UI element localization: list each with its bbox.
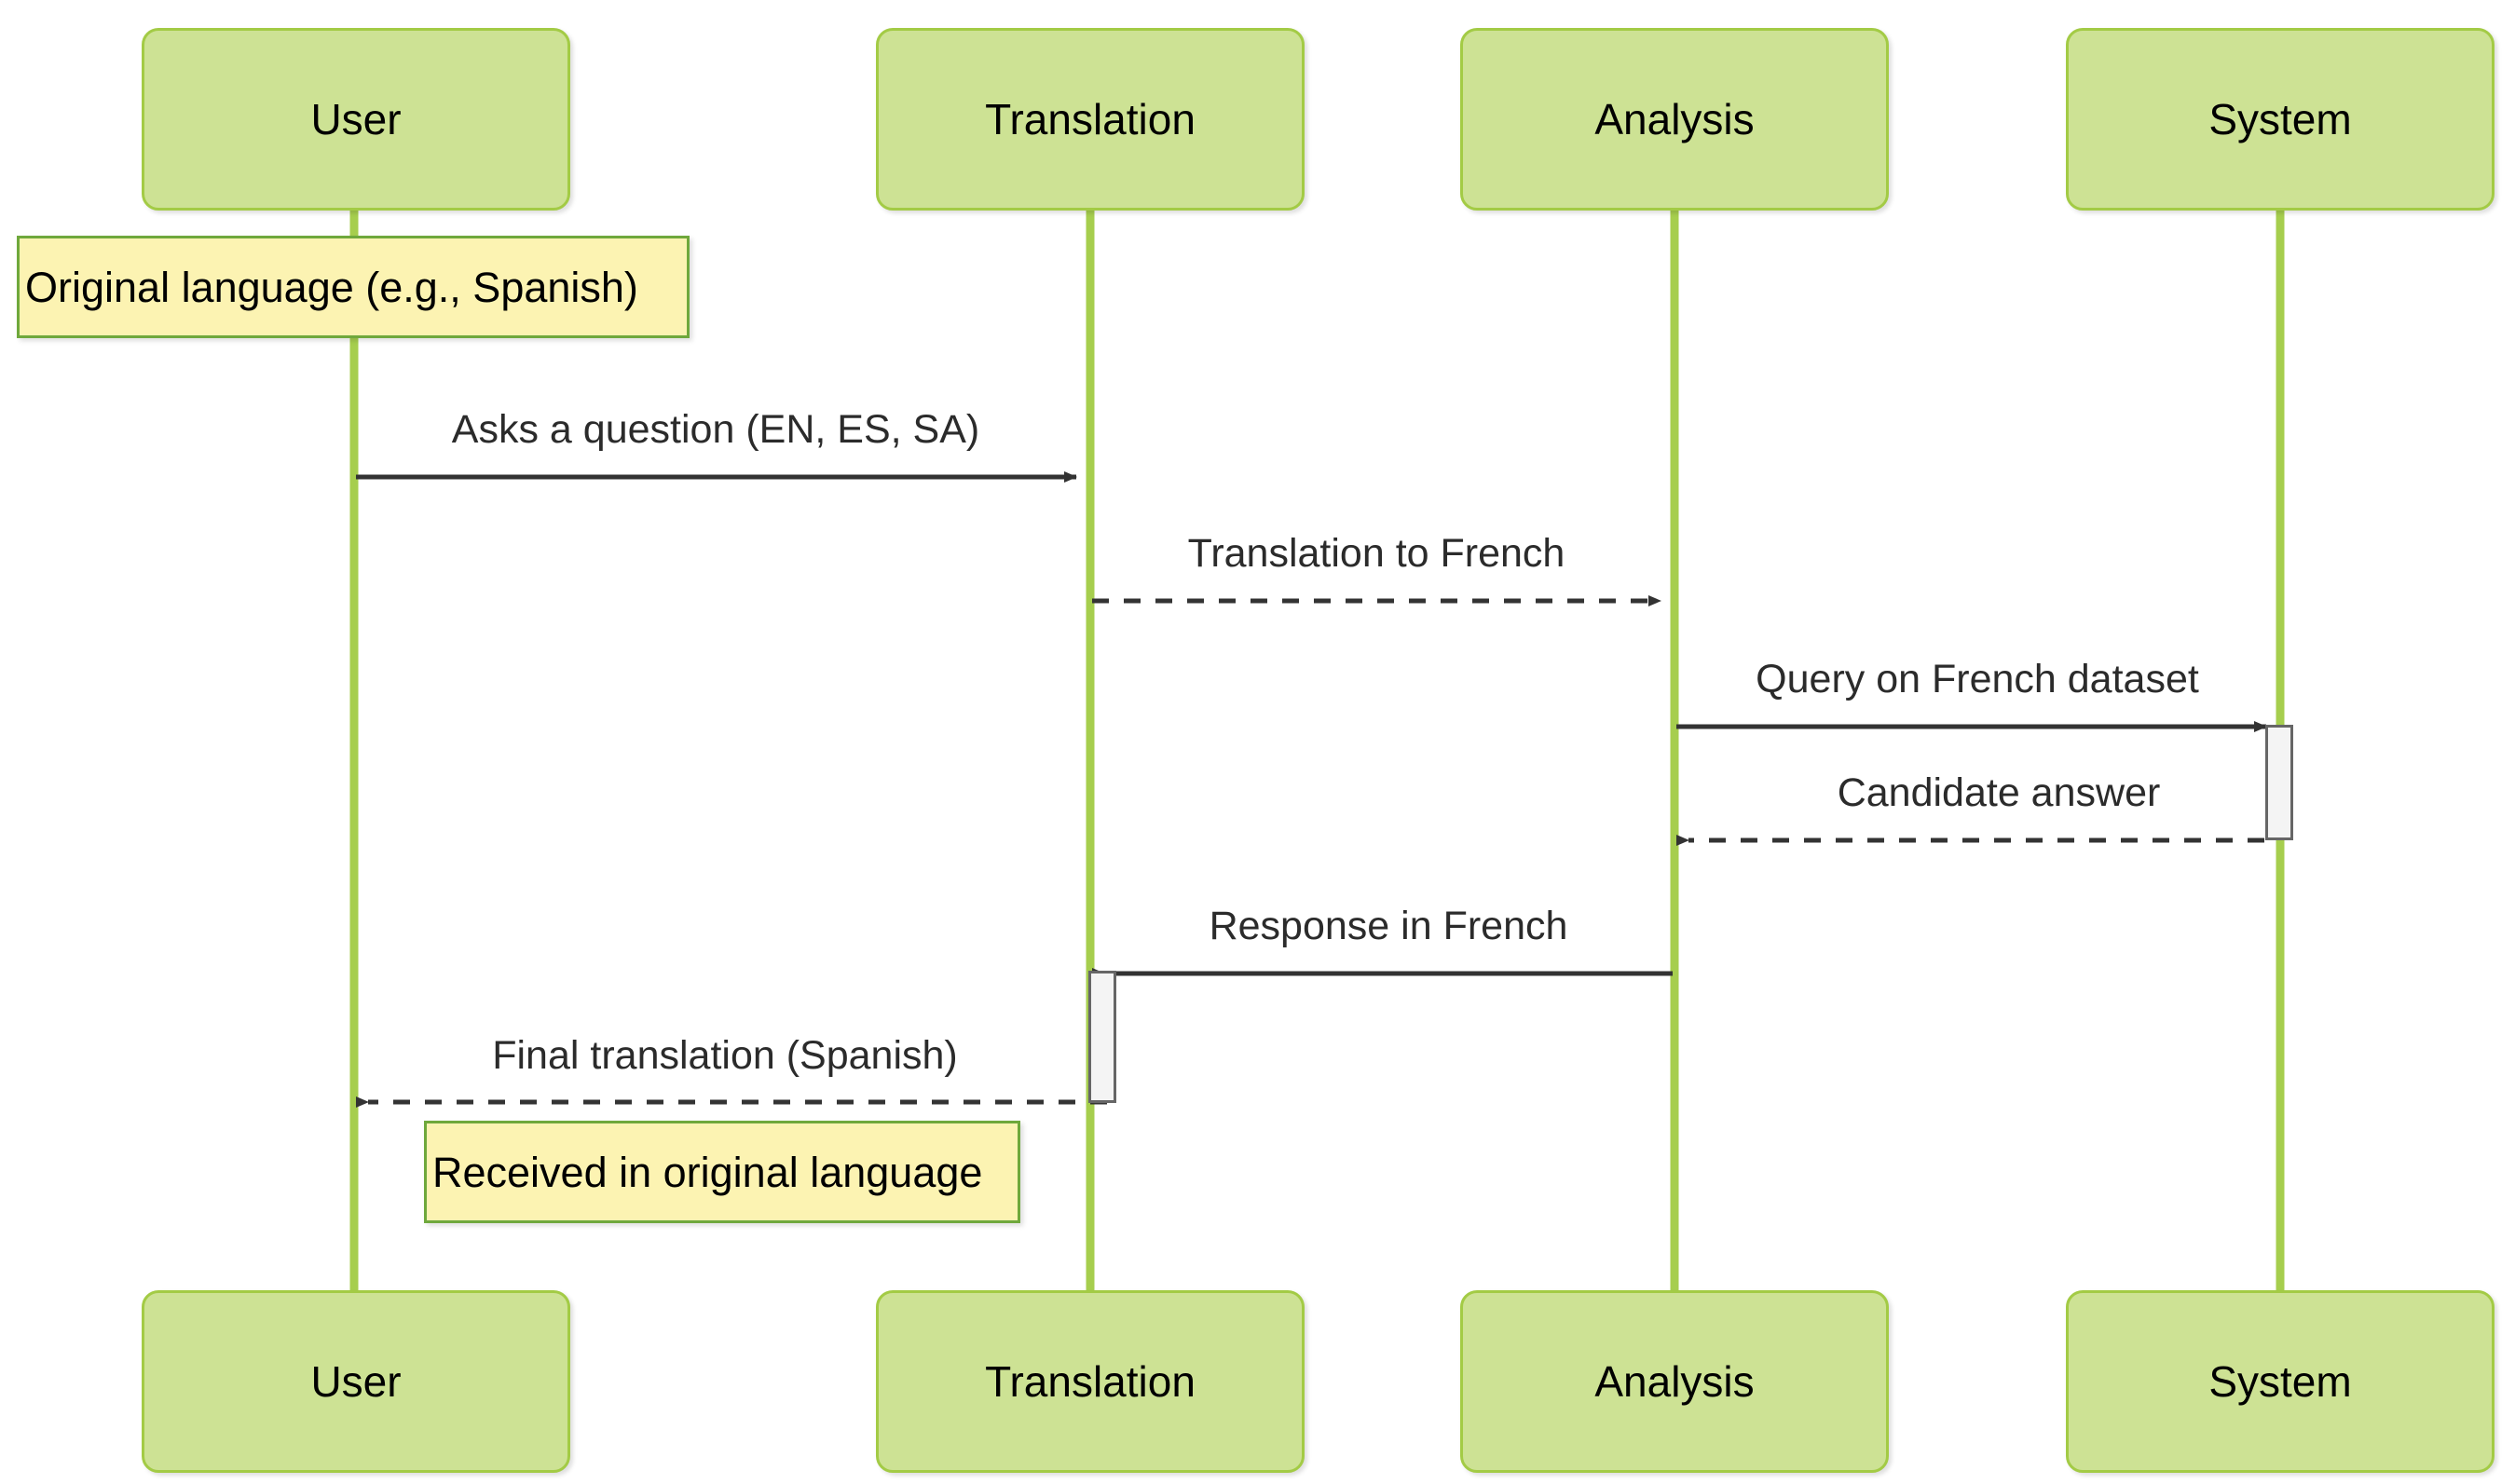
activation-bar-system (2265, 725, 2293, 840)
message-label-candidate-answer: Candidate answer (1838, 773, 2161, 813)
participant-foot-system-label: System (2208, 1360, 2351, 1403)
participant-foot-system[interactable]: System (2066, 1290, 2494, 1473)
participant-head-user-label: User (310, 98, 401, 141)
note-original-language-label: Original language (e.g., Spanish) (25, 266, 638, 308)
participant-head-system[interactable]: System (2066, 28, 2494, 211)
participant-foot-translation[interactable]: Translation (876, 1290, 1305, 1473)
participant-head-system-label: System (2208, 98, 2351, 141)
note-received-original-language[interactable]: Received in original language (424, 1121, 1020, 1223)
note-original-language[interactable]: Original language (e.g., Spanish) (17, 236, 690, 338)
participant-head-analysis[interactable]: Analysis (1460, 28, 1889, 211)
message-label-final-translation: Final translation (Spanish) (492, 1036, 958, 1076)
participant-head-translation[interactable]: Translation (876, 28, 1305, 211)
participant-foot-translation-label: Translation (985, 1360, 1196, 1403)
note-received-original-language-label: Received in original language (432, 1151, 982, 1193)
participant-foot-user[interactable]: User (142, 1290, 570, 1473)
activation-bar-translation (1088, 971, 1116, 1103)
message-label-translation-to-french: Translation to French (1188, 534, 1565, 574)
message-label-asks-question: Asks a question (EN, ES, SA) (452, 410, 979, 450)
participant-foot-user-label: User (310, 1360, 401, 1403)
message-label-query-on-french-dataset: Query on French dataset (1756, 660, 2199, 700)
message-label-response-in-french: Response in French (1210, 906, 1568, 946)
participant-head-analysis-label: Analysis (1594, 98, 1754, 141)
participant-head-user[interactable]: User (142, 28, 570, 211)
participant-foot-analysis-label: Analysis (1594, 1360, 1754, 1403)
diagram-vector-layer (0, 0, 2515, 1484)
sequence-diagram-canvas: User Translation Analysis System User Tr… (0, 0, 2515, 1484)
participant-foot-analysis[interactable]: Analysis (1460, 1290, 1889, 1473)
participant-head-translation-label: Translation (985, 98, 1196, 141)
